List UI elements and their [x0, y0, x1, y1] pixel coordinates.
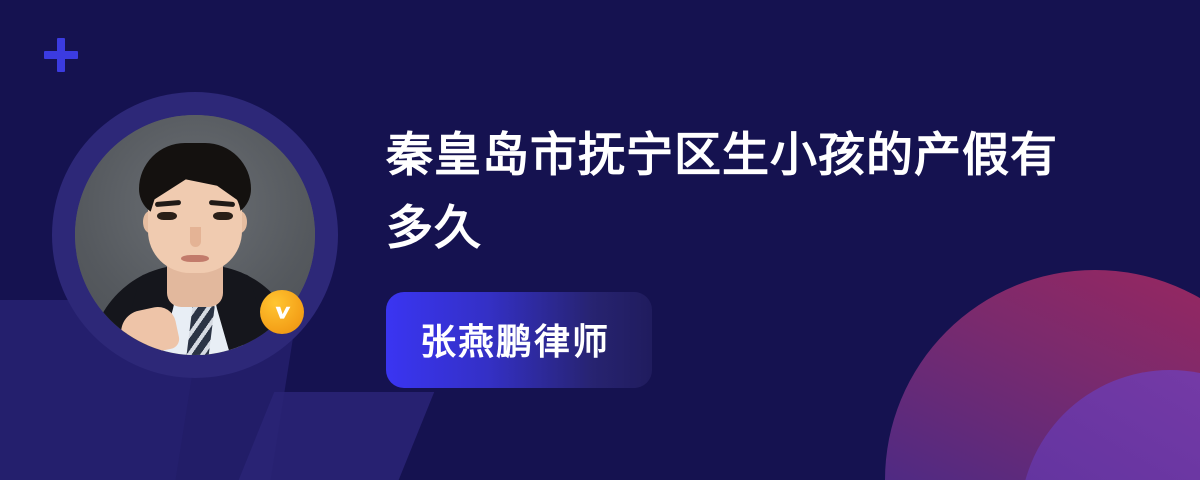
plus-icon: [42, 36, 80, 74]
portrait-mouth: [181, 255, 209, 262]
portrait-eye-left: [157, 212, 177, 220]
portrait-eye-right: [213, 212, 233, 220]
portrait-nose: [190, 227, 201, 247]
lawyer-question-banner: 秦皇岛市抚宁区生小孩的产假有多久 张燕鹏律师: [0, 0, 1200, 480]
verified-badge-icon: [260, 290, 304, 334]
text-column: 秦皇岛市抚宁区生小孩的产假有多久 张燕鹏律师: [386, 118, 1086, 388]
lawyer-name-button[interactable]: 张燕鹏律师: [386, 292, 652, 388]
avatar[interactable]: [52, 92, 338, 378]
plus-icon-vertical-bar: [57, 38, 65, 72]
page-title: 秦皇岛市抚宁区生小孩的产假有多久: [386, 118, 1086, 264]
